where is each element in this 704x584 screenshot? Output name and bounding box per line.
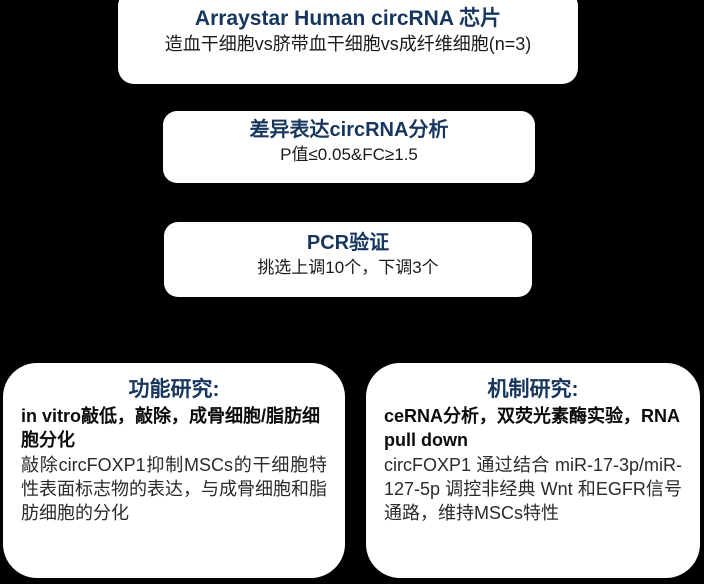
mechanism-study-title: 机制研究: — [384, 377, 682, 403]
mechanism-study-methods: ceRNA分析，双荧光素酶实验，RNA pull down — [384, 405, 682, 453]
differential-subtitle: P值≤0.05&FC≥1.5 — [173, 144, 525, 166]
flowchart-box-differential-expression: 差异表达circRNA分析 P值≤0.05&FC≥1.5 — [163, 111, 535, 183]
function-study-methods: in vitro敲低，敲除，成骨细胞/脂肪细胞分化 — [21, 405, 327, 453]
function-study-description: 敲除circFOXP1抑制MSCs的干细胞特性表面标志物的表达，与成骨细胞和脂肪… — [21, 454, 327, 526]
pcr-subtitle: 挑选上调10个，下调3个 — [174, 257, 522, 279]
mechanism-study-description: circFOXP1 通过结合 miR-17-3p/miR-127-5p 调控非经… — [384, 454, 682, 526]
pcr-title: PCR验证 — [174, 231, 522, 256]
microarray-subtitle: 造血干细胞vs脐带血干细胞vs成纤维细胞(n=3) — [128, 33, 568, 56]
flowchart-box-microarray: Arraystar Human circRNA 芯片 造血干细胞vs脐带血干细胞… — [118, 0, 578, 84]
flowchart-box-pcr-validation: PCR验证 挑选上调10个，下调3个 — [164, 222, 532, 297]
function-study-title: 功能研究: — [21, 377, 327, 403]
microarray-title: Arraystar Human circRNA 芯片 — [128, 6, 568, 32]
flowchart-box-mechanism-study: 机制研究: ceRNA分析，双荧光素酶实验，RNA pull down circ… — [366, 363, 700, 578]
differential-title: 差异表达circRNA分析 — [173, 118, 525, 143]
diagram-canvas: Arraystar Human circRNA 芯片 造血干细胞vs脐带血干细胞… — [0, 0, 704, 584]
flowchart-box-function-study: 功能研究: in vitro敲低，敲除，成骨细胞/脂肪细胞分化 敲除circFO… — [3, 363, 345, 578]
